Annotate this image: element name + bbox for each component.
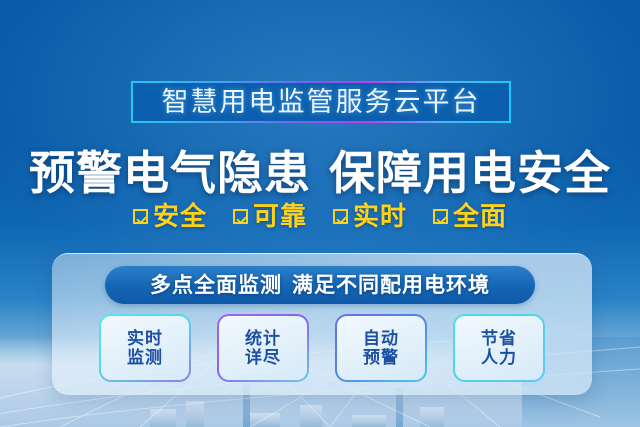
feature-item: 可靠	[233, 203, 307, 229]
subtitle-pill-banner: 多点全面监测满足不同配用电环境	[105, 266, 535, 304]
feature-label: 全面	[453, 203, 507, 229]
feature-card-row: 实时 监测 统计 详尽 自动 预警 节省 人力	[99, 314, 545, 382]
feature-item: 实时	[333, 203, 407, 229]
feature-check-row: 安全 可靠 实时 全面	[0, 203, 640, 229]
card-line-1: 统计	[245, 329, 281, 348]
feature-card-realtime-monitoring[interactable]: 实时 监测	[99, 314, 191, 382]
feature-item: 安全	[133, 203, 207, 229]
platform-title-badge: 智慧用电监管服务云平台	[131, 81, 511, 123]
feature-label: 实时	[353, 203, 407, 229]
feature-card-inner: 节省 人力	[455, 316, 543, 380]
card-line-2: 人力	[481, 348, 517, 367]
card-line-2: 详尽	[245, 348, 281, 367]
platform-title-inner: 智慧用电监管服务云平台	[133, 83, 509, 121]
headline-left-text: 预警电气隐患	[29, 147, 311, 199]
feature-card-auto-alarm[interactable]: 自动 预警	[335, 314, 427, 382]
pill-left-text: 多点全面监测	[150, 274, 282, 297]
headline-right-text: 保障用电安全	[329, 147, 611, 199]
main-headline: 预警电气隐患保障用电安全	[0, 137, 640, 203]
checkbox-check-icon	[333, 209, 348, 224]
feature-card-inner: 统计 详尽	[219, 316, 307, 380]
feature-label: 安全	[153, 203, 207, 229]
pill-text: 多点全面监测满足不同配用电环境	[150, 275, 490, 296]
feature-card-inner: 自动 预警	[337, 316, 425, 380]
card-line-2: 预警	[363, 348, 399, 367]
poster-canvas: 智慧用电监管服务云平台 预警电气隐患保障用电安全 安全 可靠 实时 全面 多点全…	[0, 0, 640, 427]
card-line-1: 自动	[363, 329, 399, 348]
feature-card-inner: 实时 监测	[101, 316, 189, 380]
feature-label: 可靠	[253, 203, 307, 229]
card-line-1: 实时	[127, 329, 163, 348]
card-line-1: 节省	[481, 329, 517, 348]
pill-right-text: 满足不同配用电环境	[292, 274, 490, 297]
card-line-2: 监测	[127, 348, 163, 367]
platform-title-text: 智慧用电监管服务云平台	[162, 89, 481, 116]
feature-card-detailed-statistics[interactable]: 统计 详尽	[217, 314, 309, 382]
checkbox-check-icon	[233, 209, 248, 224]
checkbox-check-icon	[133, 209, 148, 224]
feature-item: 全面	[433, 203, 507, 229]
feature-card-save-manpower[interactable]: 节省 人力	[453, 314, 545, 382]
checkbox-check-icon	[433, 209, 448, 224]
